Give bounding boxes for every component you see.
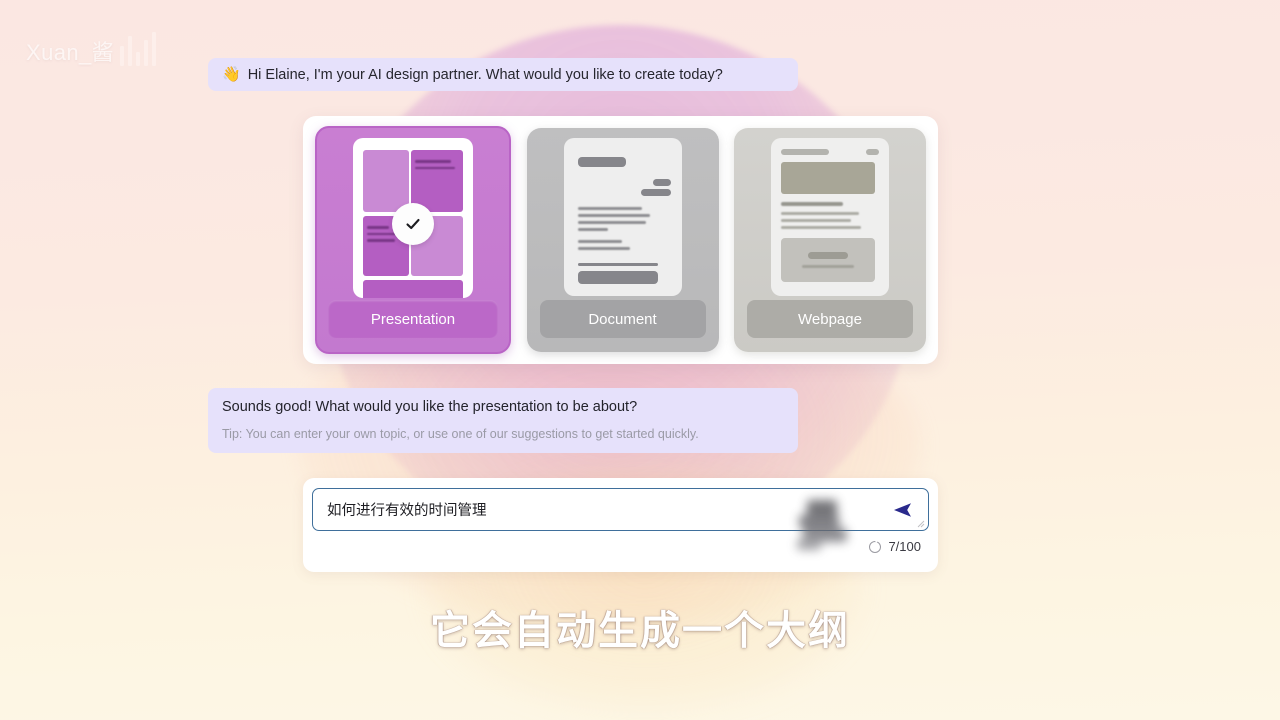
topic-input-card: 如何进行有效的时间管理 7/100	[303, 478, 938, 572]
assistant-greeting-bubble: 👋 Hi Elaine, I'm your AI design partner.…	[208, 58, 798, 91]
video-subtitle: 它会自动生成一个大纲	[0, 598, 1280, 656]
content-type-picker: Presentation	[303, 116, 938, 364]
ai-design-chat: 👋 Hi Elaine, I'm your AI design partner.…	[0, 0, 1280, 720]
type-card-label-presentation: Presentation	[328, 300, 498, 338]
topic-input-value: 如何进行有效的时间管理	[327, 499, 487, 520]
topic-input[interactable]: 如何进行有效的时间管理	[312, 488, 929, 531]
wave-hand-icon: 👋	[222, 67, 241, 82]
presentation-thumbnail	[353, 138, 473, 298]
type-card-document[interactable]: Document	[527, 128, 719, 352]
send-icon[interactable]	[892, 500, 914, 520]
assistant-greeting-text: Hi Elaine, I'm your AI design partner. W…	[248, 67, 723, 83]
resize-grip-icon[interactable]	[917, 520, 925, 528]
assistant-prompt-text: Sounds good! What would you like the pre…	[222, 399, 784, 416]
character-counter: 7/100	[869, 539, 921, 554]
type-card-label-document: Document	[540, 300, 706, 338]
type-card-webpage[interactable]: Webpage	[734, 128, 926, 352]
assistant-prompt-tip: Tip: You can enter your own topic, or us…	[222, 427, 784, 442]
character-counter-text: 7/100	[888, 539, 921, 554]
type-card-presentation[interactable]: Presentation	[315, 126, 511, 354]
assistant-prompt-bubble: Sounds good! What would you like the pre…	[208, 388, 798, 453]
webpage-thumbnail	[771, 138, 889, 296]
check-icon	[392, 203, 434, 245]
clock-icon	[869, 541, 881, 553]
document-thumbnail	[564, 138, 682, 296]
type-card-label-webpage: Webpage	[747, 300, 913, 338]
